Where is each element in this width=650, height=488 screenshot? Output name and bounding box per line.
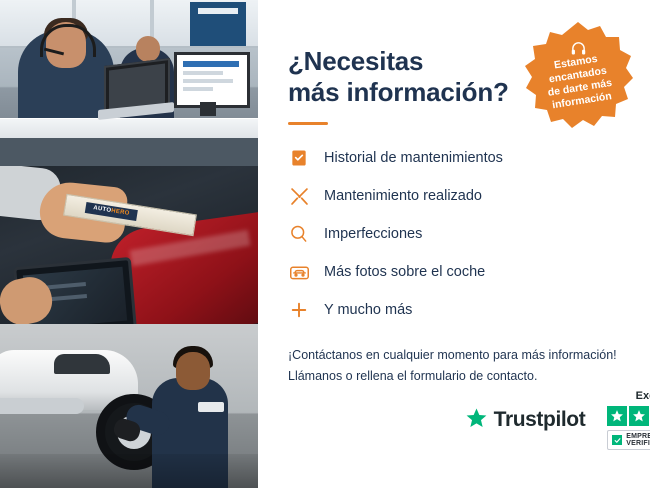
contact-paragraph: ¡Contáctanos en cualquier momento para m…	[288, 345, 620, 386]
rating-stars	[607, 406, 650, 426]
list-item-label: Más fotos sobre el coche	[324, 264, 485, 281]
feature-list: Historial de mantenimientos Mantenimient…	[288, 139, 620, 329]
photo3-uniform-badge	[198, 402, 224, 412]
photo-column: AUTOHERO	[0, 0, 258, 488]
photo3-mechanic-head	[176, 352, 210, 390]
trustpilot-block: Trustpilot Excelente	[546, 390, 634, 450]
trustpilot-logo: Trustpilot	[465, 407, 586, 434]
list-item-label: Mantenimiento realizado	[324, 188, 482, 205]
tools-icon	[288, 185, 310, 207]
headline-line-1: ¿Necesitas	[288, 46, 423, 76]
contact-line-1: ¡Contáctanos en cualquier momento para m…	[288, 348, 617, 362]
badge-text: Estamos encantados de darte más informac…	[514, 12, 642, 140]
status-badge: Estamos encantados de darte más informac…	[522, 20, 634, 132]
photo1-background-person-head	[136, 36, 160, 62]
ruler-logo-part2: HERO	[111, 208, 130, 217]
photo3-floor-shadow	[0, 454, 258, 488]
list-item-label: Imperfecciones	[324, 226, 422, 243]
car-photo-icon	[288, 261, 310, 283]
content-column: ¿Necesitas más información? Historial de…	[258, 0, 650, 488]
star-icon	[607, 406, 627, 426]
trustpilot-rating: Excelente	[607, 390, 650, 450]
photo1-monitor-stand	[200, 102, 216, 116]
photo-dealership-desk	[0, 0, 258, 166]
photo1-desk-top	[0, 118, 258, 139]
photo-car-lift	[0, 324, 258, 488]
list-item: Más fotos sobre el coche	[288, 253, 620, 291]
ruler-logo-part1: AUTO	[93, 205, 112, 214]
ruler-logo: AUTOHERO	[85, 202, 138, 221]
contact-line-2: Llámanos o rellena el formulario de cont…	[288, 369, 537, 383]
verified-label: EMPRESA VERIFICADA	[626, 433, 650, 447]
trustpilot-wordmark: Trustpilot	[494, 408, 586, 432]
page-title: ¿Necesitas más información?	[288, 46, 518, 108]
photo-inspection-ruler: AUTOHERO	[0, 166, 258, 324]
photo3-car-bumper	[0, 398, 84, 414]
rating-label: Excelente	[636, 390, 650, 402]
photo3-car-window	[54, 354, 110, 374]
list-item: Y mucho más	[288, 291, 620, 329]
list-item: Mantenimiento realizado	[288, 177, 620, 215]
checklist-icon	[288, 147, 310, 169]
photo1-monitor-ui-line	[183, 87, 213, 91]
magnifier-icon	[288, 223, 310, 245]
headline-line-2: más información?	[288, 77, 518, 108]
list-item-label: Y mucho más	[324, 302, 412, 319]
photo1-monitor-ui-bar	[183, 61, 239, 67]
list-item: Imperfecciones	[288, 215, 620, 253]
plus-icon	[288, 299, 310, 321]
title-divider	[288, 122, 328, 125]
promo-card: AUTOHERO	[0, 0, 650, 488]
photo1-monitor-ui-line	[183, 79, 233, 83]
trustpilot-star-icon	[465, 407, 488, 434]
photo1-monitor	[174, 52, 250, 108]
photo1-wall-banner-stripe	[198, 8, 238, 14]
list-item-label: Historial de mantenimientos	[324, 150, 503, 167]
list-item: Historial de mantenimientos	[288, 139, 620, 177]
star-icon	[629, 406, 649, 426]
photo1-monitor-ui-line	[183, 71, 223, 75]
photo1-desk-front	[0, 138, 258, 166]
check-icon	[612, 435, 622, 445]
verified-badge: EMPRESA VERIFICADA	[607, 430, 650, 450]
